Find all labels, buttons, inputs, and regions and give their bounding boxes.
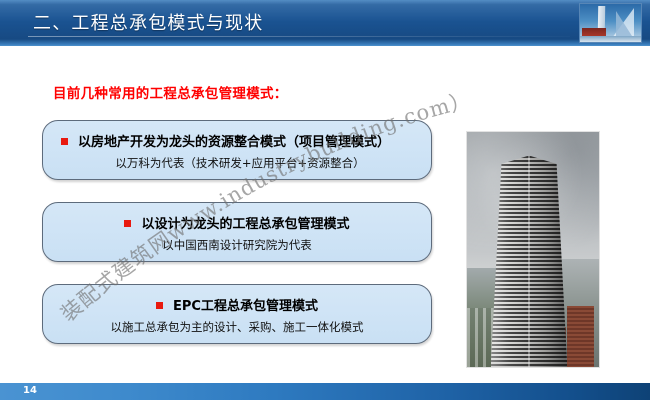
- slide-canvas: 二、工程总承包模式与现状 目前几种常用的工程总承包管理模式： 以房地产开发为龙头…: [0, 0, 650, 406]
- photo-brick-building: [567, 306, 593, 367]
- section-heading: 目前几种常用的工程总承包管理模式：: [53, 82, 288, 102]
- mode-card-1: 以房地产开发为龙头的资源整合模式（项目管理模式） 以万科为代表（技术研发+应用平…: [42, 120, 432, 180]
- mode-card-3-title-row: EPC工程总承包管理模式: [43, 295, 431, 314]
- mode-card-2-title-row: 以设计为龙头的工程总承包管理模式: [43, 213, 431, 232]
- mode-card-2: 以设计为龙头的工程总承包管理模式 以中国西南设计研究院为代表: [42, 202, 432, 262]
- building-photo: [466, 131, 600, 368]
- mode-card-2-subtitle: 以中国西南设计研究院为代表: [43, 237, 431, 253]
- page-number: 14: [23, 385, 37, 396]
- header-underline: [28, 36, 570, 37]
- slide-header-bar: 二、工程总承包模式与现状: [0, 0, 650, 46]
- header-thumbnail-image: [579, 3, 642, 43]
- thumbnail-ground: [580, 36, 641, 42]
- square-bullet-icon: [156, 302, 163, 309]
- mode-card-3: EPC工程总承包管理模式 以施工总承包为主的设计、采购、施工一体化模式: [42, 284, 432, 344]
- square-bullet-icon: [124, 220, 131, 227]
- mode-card-1-title-row: 以房地产开发为龙头的资源整合模式（项目管理模式）: [43, 131, 431, 150]
- mode-card-3-title: EPC工程总承包管理模式: [173, 299, 318, 314]
- slide-footer-bar: 14: [0, 383, 650, 400]
- mode-card-1-subtitle: 以万科为代表（技术研发+应用平台+资源整合）: [43, 155, 431, 171]
- square-bullet-icon: [61, 138, 68, 145]
- mode-card-3-subtitle: 以施工总承包为主的设计、采购、施工一体化模式: [43, 319, 431, 335]
- mode-card-2-title: 以设计为龙头的工程总承包管理模式: [141, 217, 349, 232]
- page-title: 二、工程总承包模式与现状: [33, 9, 263, 35]
- thumbnail-sail-shape-2: [616, 11, 632, 36]
- mode-card-1-title: 以房地产开发为龙头的资源整合模式（项目管理模式）: [78, 135, 390, 150]
- photo-tower-edge: [528, 156, 530, 368]
